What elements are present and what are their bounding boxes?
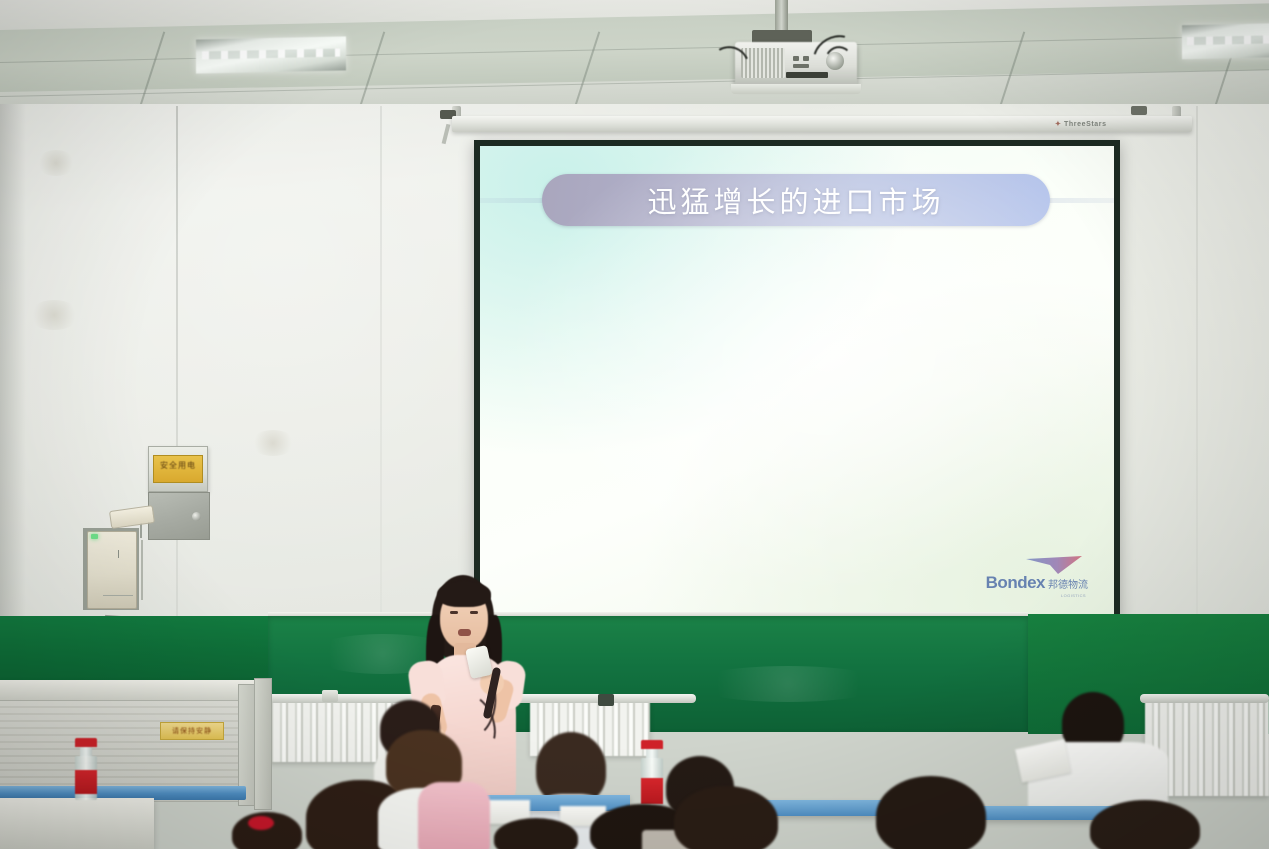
logo-subtext: LOGISTICS bbox=[1061, 593, 1086, 598]
audience-member-front-3 bbox=[418, 782, 490, 849]
wall-stain bbox=[28, 300, 80, 330]
projection-screen-frame: 迅猛增长的进口市场 Bondex 邦德物流 bbox=[474, 140, 1120, 620]
audience-hair bbox=[674, 786, 778, 849]
presenter-fringe bbox=[437, 581, 491, 607]
safety-plate-text: 安全用电 bbox=[154, 460, 202, 471]
audience-hair bbox=[1090, 800, 1200, 849]
desk-divider-panel bbox=[254, 678, 272, 810]
audience-hair bbox=[494, 818, 578, 849]
cola-bottle bbox=[75, 738, 97, 800]
front-desk-top bbox=[0, 680, 256, 702]
projection-screen-surface: 迅猛增长的进口市场 Bondex 邦德物流 bbox=[480, 146, 1114, 614]
chalk-smudge bbox=[688, 666, 888, 702]
desk-notice-text: 请保持安静 bbox=[172, 726, 212, 736]
ceiling-light-panel bbox=[1182, 23, 1269, 60]
desk-notice-sign: 请保持安静 bbox=[160, 722, 224, 740]
presenter-mouth bbox=[458, 629, 471, 636]
projector-control-knob bbox=[803, 56, 809, 61]
safety-warning-plate: 安全用电 bbox=[153, 455, 203, 483]
wall-stain bbox=[250, 430, 296, 456]
wall-corner-shadow bbox=[0, 104, 26, 624]
audience-member-front-4 bbox=[232, 812, 302, 849]
screen-brand-label: ✦ ThreeStars bbox=[1055, 120, 1107, 128]
projector-port bbox=[793, 64, 809, 68]
logo-swoosh-icon bbox=[1024, 555, 1084, 575]
audience-member-front-5 bbox=[494, 818, 578, 849]
presenter-eye-right bbox=[470, 611, 478, 614]
logo-wordmark-row: Bondex 邦德物流 bbox=[986, 573, 1088, 593]
projector-control-knob bbox=[793, 56, 799, 61]
radiator-valve bbox=[322, 690, 338, 702]
wall-seam-line bbox=[380, 106, 382, 616]
telephone-cord bbox=[118, 550, 119, 558]
cabinet-handle bbox=[192, 512, 201, 521]
bottle-cap bbox=[75, 738, 97, 747]
audience-shirt-pink bbox=[418, 782, 490, 849]
classroom-photo: ✦ ThreeStars 迅猛增长的进口市场 bbox=[0, 0, 1269, 849]
audience-member-front-7 bbox=[674, 786, 778, 849]
front-desk-lower bbox=[0, 798, 154, 849]
presenter-eye-left bbox=[450, 611, 458, 614]
wall-telephone bbox=[87, 531, 137, 609]
slide-title-text: 迅猛增长的进口市场 bbox=[647, 179, 944, 221]
audience-hair bbox=[876, 776, 986, 849]
bottle-label bbox=[75, 770, 97, 794]
audience-member-front-8 bbox=[876, 776, 986, 849]
telephone-cord bbox=[103, 595, 133, 596]
brand-dot-icon: ✦ bbox=[1055, 121, 1061, 128]
wall-stain bbox=[36, 150, 76, 176]
wall-seam-line bbox=[1196, 106, 1198, 616]
bottle-cap bbox=[641, 740, 663, 749]
hair-accessory bbox=[248, 816, 274, 830]
bondex-logo: Bondex 邦德物流 LOGISTICS bbox=[986, 555, 1088, 598]
telephone-status-led bbox=[91, 534, 98, 539]
wall-conduit bbox=[141, 540, 143, 600]
wall-seam-line bbox=[176, 106, 178, 622]
radiator-valve bbox=[598, 694, 614, 706]
ceiling-light-panel bbox=[196, 36, 346, 73]
logo-chinese-name: 邦德物流 bbox=[1048, 576, 1088, 593]
slide-title-pill: 迅猛增长的进口市场 bbox=[542, 174, 1050, 226]
logo-wordmark: Bondex bbox=[986, 573, 1045, 593]
projector-mount-pole bbox=[775, 0, 788, 34]
audience-member-front-9 bbox=[1090, 800, 1200, 849]
screen-mount-nub bbox=[1131, 106, 1147, 115]
